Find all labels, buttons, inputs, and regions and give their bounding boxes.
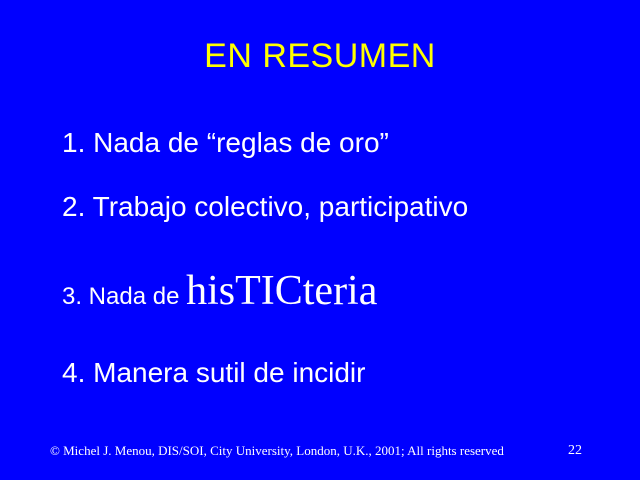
list-item: 1. Nada de “reglas de oro” — [62, 126, 389, 160]
slide-canvas: EN RESUMEN 1. Nada de “reglas de oro” 2.… — [0, 0, 640, 480]
list-item: 4. Manera sutil de incidir — [62, 356, 365, 390]
list-item: 2. Trabajo colectivo, participativo — [62, 190, 468, 224]
list-item-emphasis-text: hisTICteria — [186, 268, 377, 314]
slide-footer: © Michel J. Menou, DIS/SOI, City Univers… — [0, 440, 640, 464]
list-item-lead-text: 3. Nada de — [62, 283, 186, 310]
copyright-notice: © Michel J. Menou, DIS/SOI, City Univers… — [50, 442, 504, 460]
bullet-list: 1. Nada de “reglas de oro” 2. Trabajo co… — [0, 112, 640, 412]
page-title: EN RESUMEN — [0, 36, 640, 76]
page-number: 22 — [568, 442, 582, 460]
list-item: 3. Nada de hisTICteria — [62, 270, 377, 315]
